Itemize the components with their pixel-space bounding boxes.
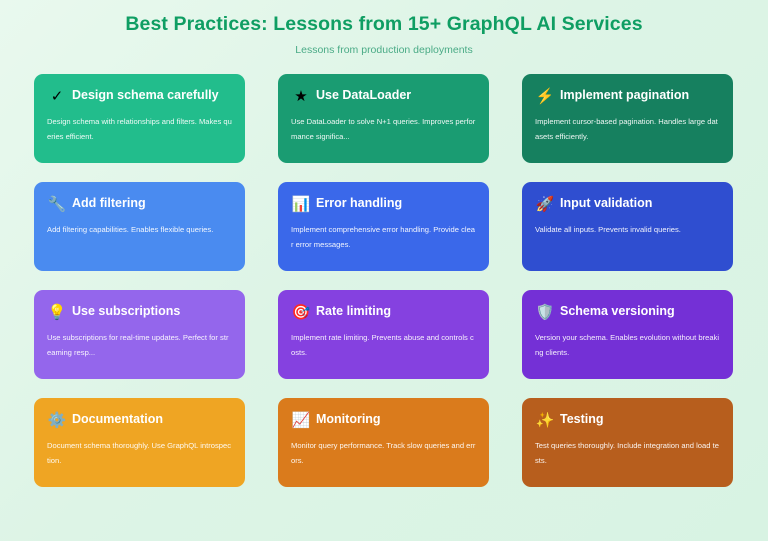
practice-card-description: Implement cursor-based pagination. Handl… <box>535 115 720 145</box>
practice-card-description: Design schema with relationships and fil… <box>47 115 232 145</box>
practice-card[interactable]: 📈MonitoringMonitor query performance. Tr… <box>278 398 489 487</box>
check-mark-icon: ✓ <box>47 89 67 104</box>
practice-card-header: 🚀Input validation <box>535 194 720 214</box>
practice-card-description: Add filtering capabilities. Enables flex… <box>47 223 232 238</box>
practice-card-title: Error handling <box>316 197 402 211</box>
best-practices-grid: ✓Design schema carefullyDesign schema wi… <box>34 74 734 487</box>
practice-card-description: Use DataLoader to solve N+1 queries. Imp… <box>291 115 476 145</box>
practice-card-description: Monitor query performance. Track slow qu… <box>291 439 476 469</box>
practice-card[interactable]: 🔧Add filteringAdd filtering capabilities… <box>34 182 245 271</box>
practice-card-header: ★Use DataLoader <box>291 86 476 106</box>
practice-card[interactable]: 🚀Input validationValidate all inputs. Pr… <box>522 182 733 271</box>
practice-card-header: ✓Design schema carefully <box>47 86 232 106</box>
practice-card-title: Schema versioning <box>560 305 675 319</box>
practice-card[interactable]: ⚡Implement paginationImplement cursor-ba… <box>522 74 733 163</box>
practice-card-description: Implement rate limiting. Prevents abuse … <box>291 331 476 361</box>
practice-card-title: Use DataLoader <box>316 89 411 103</box>
practice-card-title: Implement pagination <box>560 89 689 103</box>
practice-card-header: 📊Error handling <box>291 194 476 214</box>
practice-card-title: Testing <box>560 413 604 427</box>
direct-hit-icon: 🎯 <box>291 305 311 320</box>
best-practices-page: Best Practices: Lessons from 15+ GraphQL… <box>0 0 768 541</box>
star-icon: ★ <box>291 89 311 104</box>
practice-card-description: Validate all inputs. Prevents invalid qu… <box>535 223 720 238</box>
practice-card-title: Monitoring <box>316 413 381 427</box>
shield-icon: 🛡️ <box>535 305 555 320</box>
practice-card-title: Add filtering <box>72 197 146 211</box>
practice-card-title: Documentation <box>72 413 163 427</box>
practice-card-header: 🔧Add filtering <box>47 194 232 214</box>
practice-card[interactable]: 📊Error handlingImplement comprehensive e… <box>278 182 489 271</box>
practice-card-header: 🛡️Schema versioning <box>535 302 720 322</box>
practice-card-title: Design schema carefully <box>72 89 219 103</box>
practice-card[interactable]: ✓Design schema carefullyDesign schema wi… <box>34 74 245 163</box>
practice-card-description: Document schema thoroughly. Use GraphQL … <box>47 439 232 469</box>
practice-card-header: ⚙️Documentation <box>47 410 232 430</box>
practice-card-description: Use subscriptions for real-time updates.… <box>47 331 232 361</box>
practice-card-description: Implement comprehensive error handling. … <box>291 223 476 253</box>
practice-card[interactable]: 🎯Rate limitingImplement rate limiting. P… <box>278 290 489 379</box>
practice-card[interactable]: ⚙️DocumentationDocument schema thoroughl… <box>34 398 245 487</box>
high-voltage-icon: ⚡ <box>535 89 555 104</box>
practice-card-header: 💡Use subscriptions <box>47 302 232 322</box>
practice-card-description: Test queries thoroughly. Include integra… <box>535 439 720 469</box>
practice-card[interactable]: ★Use DataLoaderUse DataLoader to solve N… <box>278 74 489 163</box>
wrench-icon: 🔧 <box>47 197 67 212</box>
practice-card-header: 🎯Rate limiting <box>291 302 476 322</box>
practice-card-title: Use subscriptions <box>72 305 180 319</box>
sparkles-icon: ✨ <box>535 413 555 428</box>
light-bulb-icon: 💡 <box>47 305 67 320</box>
practice-card-header: ⚡Implement pagination <box>535 86 720 106</box>
practice-card-title: Rate limiting <box>316 305 391 319</box>
practice-card-header: ✨Testing <box>535 410 720 430</box>
practice-card[interactable]: 💡Use subscriptionsUse subscriptions for … <box>34 290 245 379</box>
gear-icon: ⚙️ <box>47 413 67 428</box>
page-subtitle: Lessons from production deployments <box>0 44 768 57</box>
rocket-icon: 🚀 <box>535 197 555 212</box>
practice-card-header: 📈Monitoring <box>291 410 476 430</box>
practice-card[interactable]: 🛡️Schema versioningVersion your schema. … <box>522 290 733 379</box>
chart-increasing-icon: 📈 <box>291 413 311 428</box>
bar-chart-icon: 📊 <box>291 197 311 212</box>
page-title: Best Practices: Lessons from 15+ GraphQL… <box>0 13 768 35</box>
practice-card-description: Version your schema. Enables evolution w… <box>535 331 720 361</box>
practice-card[interactable]: ✨TestingTest queries thoroughly. Include… <box>522 398 733 487</box>
practice-card-title: Input validation <box>560 197 652 211</box>
page-header: Best Practices: Lessons from 15+ GraphQL… <box>0 0 768 57</box>
